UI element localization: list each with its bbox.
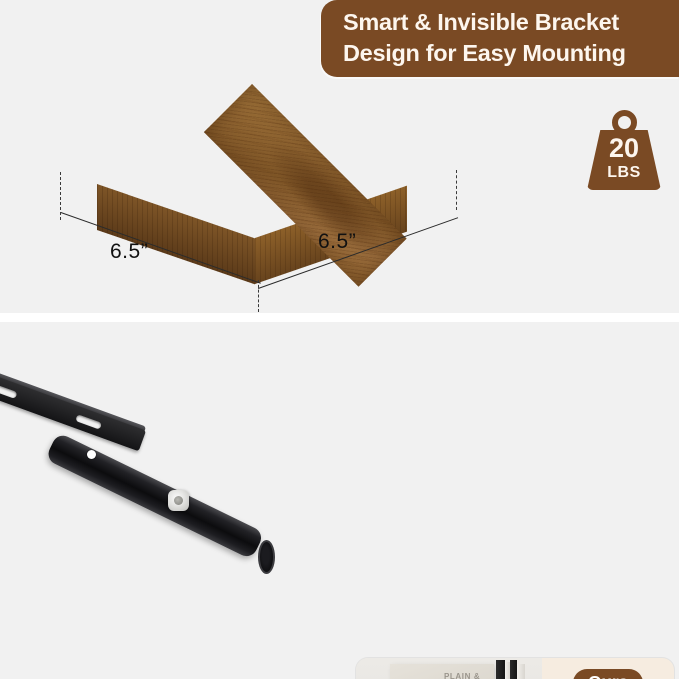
comparison-card-ours: PLAIN & SIMPLE KIM BRENNEMAN Ours DEEPER… (356, 658, 674, 679)
bracket-illustration (0, 322, 348, 679)
bracket-rod (45, 432, 265, 560)
ours-badge: Ours (573, 669, 643, 679)
infographic-page: Smart & Invisible Bracket Design for Eas… (0, 0, 679, 679)
dim-tick-right (456, 170, 457, 210)
dimension-label-depth: 6.5” (318, 230, 356, 254)
ours-book-spine-1 (496, 660, 505, 679)
bracket-slot-2 (75, 414, 102, 429)
panel-divider (0, 313, 679, 322)
ours-book-spine-4 (517, 664, 525, 679)
ours-photo: PLAIN & SIMPLE KIM BRENNEMAN (356, 658, 542, 679)
ours-info: Ours DEEPER & THICKER Create more storag… (542, 658, 674, 679)
weight-value: 20 (585, 135, 663, 162)
bottom-panel: Made of Military Grade Iron Unique Rubbe… (0, 322, 679, 679)
dim-tick-bottom (258, 280, 259, 312)
banner-title-line1: Smart & Invisible Bracket (343, 7, 671, 38)
iron-callout-anchor (87, 450, 96, 459)
bracket-rod-cap (258, 540, 275, 574)
bracket-slot-1 (0, 383, 17, 398)
weight-unit: LBS (585, 165, 663, 181)
ours-book-title-line1: PLAIN & (444, 672, 480, 679)
banner-title: Smart & Invisible Bracket Design for Eas… (343, 7, 671, 68)
shelf-illustration: 6.5” 6.5” (52, 62, 472, 302)
rubber-stopper (168, 490, 189, 511)
ours-book-spine-3 (510, 660, 517, 679)
weight-badge: 20 LBS (585, 110, 663, 190)
top-panel: Smart & Invisible Bracket Design for Eas… (0, 0, 679, 313)
dimension-label-width: 6.5” (110, 240, 148, 264)
